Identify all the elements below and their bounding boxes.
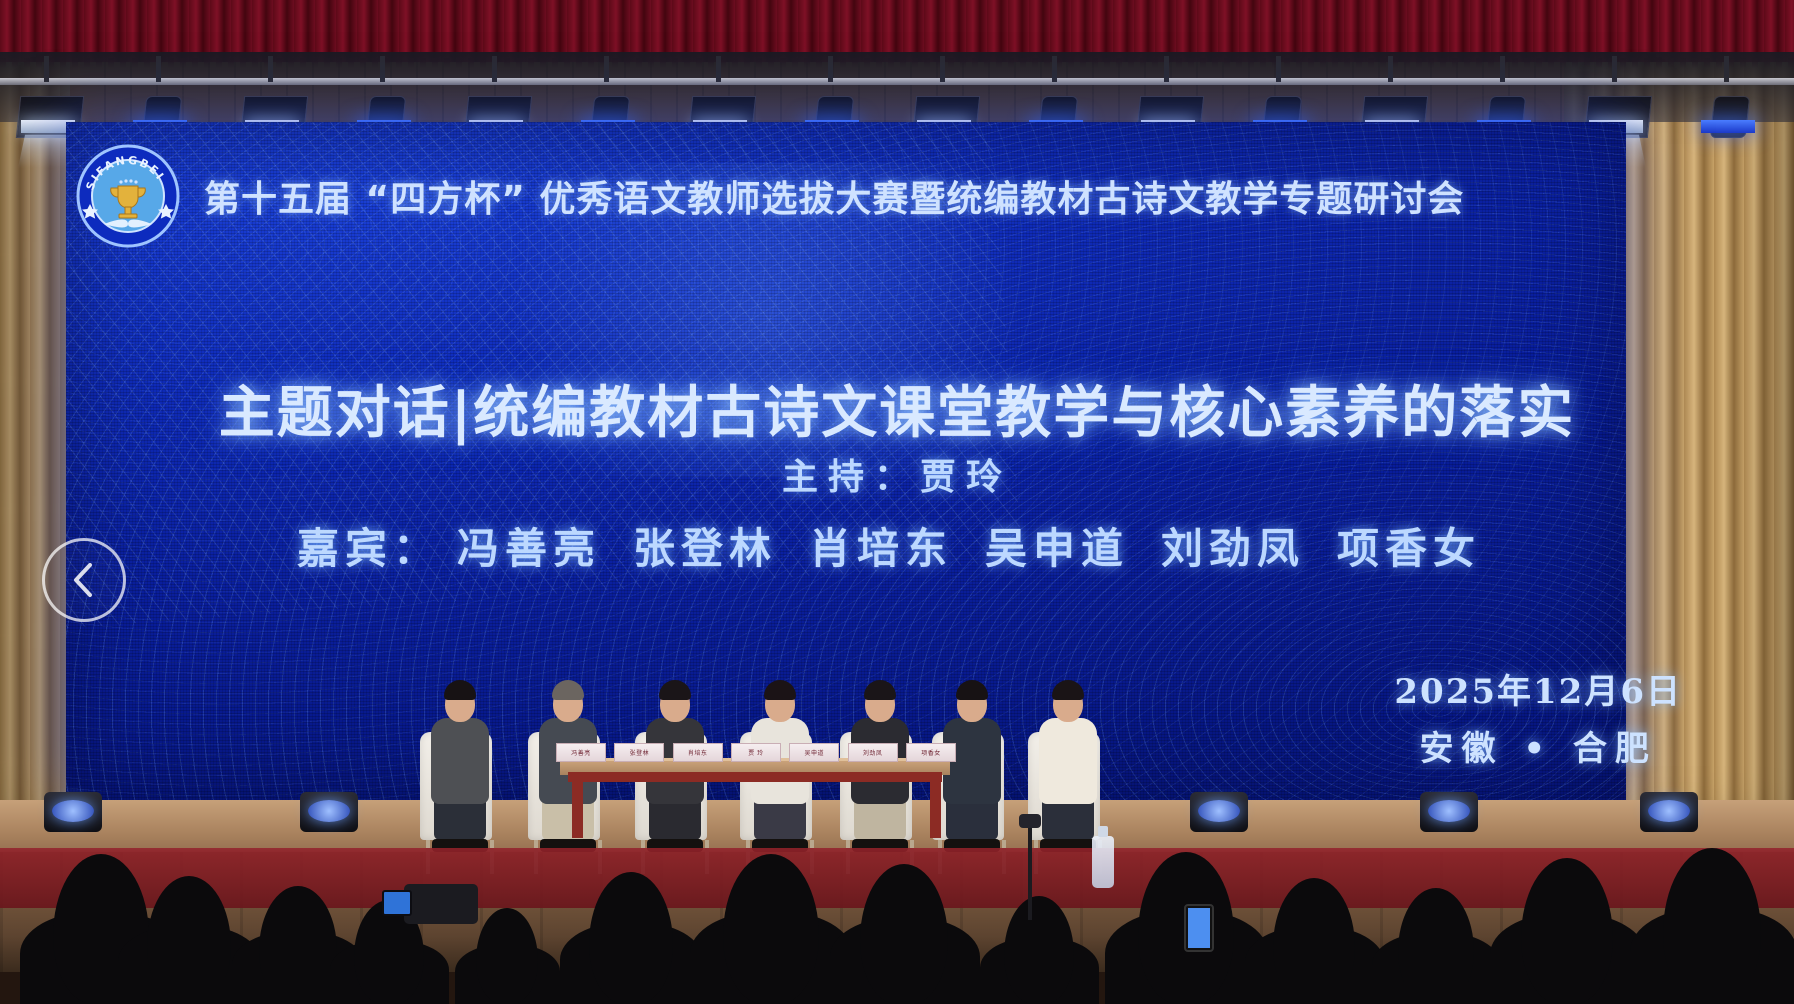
audience-head [1273,878,1355,1004]
video-camera [404,884,478,924]
panelist-hair [444,680,476,700]
name-placard: 冯善亮 [556,743,606,762]
microphone-stand [1028,824,1032,920]
guest-name: 吴申道 [985,524,1129,573]
name-placard-row: 冯善亮张登林肖培东贾 玲吴申道刘劲凤项香女 [556,742,956,762]
guest-name: 冯善亮 [457,524,601,573]
smartphone-recording [1184,904,1214,952]
host-line: 主持：贾玲 [0,448,1794,500]
panelist-hair [552,680,584,700]
stage-light-fixture [1698,74,1760,136]
panelist-hair [659,680,691,700]
audience-area [0,804,1794,1004]
camera-flip-screen [382,890,412,916]
audience-head [860,864,948,1004]
phone-screen [1188,908,1210,948]
audience-head [1004,896,1074,1004]
water-bottle [1092,836,1114,888]
audience-head [259,886,337,1004]
screen-header-row: SIFANGBEI [74,160,1504,232]
auditorium: SIFANGBEI [0,0,1794,1004]
audience-head [476,908,538,1004]
sifangbei-trophy-emblem-icon: SIFANGBEI [74,142,182,250]
session-title: 主题对话|统编教材古诗文课堂教学与核心素养的落实 [0,368,1794,449]
guest-name: 刘劲凤 [1161,524,1305,573]
panelist-hair [864,680,896,700]
table-skirt [568,772,942,782]
guests-label: 嘉宾： [297,524,441,573]
panelist-torso [431,718,489,804]
event-meta: 2025年12月6日 安徽 • 合肥 [1394,664,1682,770]
guest-name: 肖培东 [809,524,953,573]
event-headline: 第十五届 “四方杯” 优秀语文教师选拔大赛暨统编教材古诗文教学专题研讨会 [204,170,1464,222]
panelist-torso [1039,718,1097,804]
event-location: 安徽 • 合肥 [1394,721,1682,770]
chevron-left-icon [69,560,99,600]
panelist-hair [764,680,796,700]
audience-head [147,876,231,1004]
name-placard: 项香女 [906,743,956,762]
guests-line: 嘉宾：冯善亮张登林肖培东吴申道刘劲凤项香女 [0,515,1794,576]
panelist-hair [1052,680,1084,700]
name-placard: 张登林 [614,743,664,762]
audience-head [589,872,673,1004]
name-placard: 肖培东 [673,743,723,762]
audience-head [1398,888,1474,1004]
panelist-hair [956,680,988,700]
audience-head [723,854,819,1004]
event-date: 2025年12月6日 [1394,664,1682,713]
name-placard: 吴申道 [789,743,839,762]
prev-image-button[interactable] [42,538,126,622]
guest-name: 张登林 [633,524,777,573]
name-placard: 贾 玲 [731,743,781,762]
name-placard: 刘劲凤 [848,743,898,762]
photo-viewer: SIFANGBEI [0,0,1794,1004]
guest-name: 项香女 [1337,524,1481,573]
